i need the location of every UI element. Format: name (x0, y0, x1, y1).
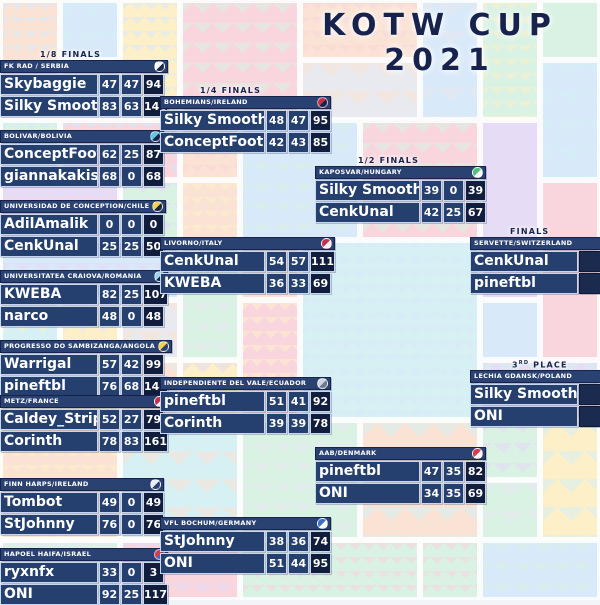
venue-name: UNIVERSITATEA CRAIOVA/ROMANIA (4, 270, 151, 283)
background-tile (420, 540, 480, 600)
score-total: 48 (143, 306, 164, 327)
score-leg1: 48 (99, 306, 120, 327)
match-venue-header: LIVORNO/ITALY (160, 237, 335, 250)
score-leg1: 39 (421, 180, 442, 201)
crest-vfl-bochum-icon (317, 518, 328, 529)
match-row[interactable]: ONI (470, 406, 600, 427)
crest-livorno-icon (321, 238, 332, 249)
venue-name: LIVORNO/ITALY (164, 237, 318, 250)
match-row[interactable]: CenkUnal (470, 251, 600, 272)
score-leg2: 0 (121, 214, 142, 235)
page-title: KOTW CUP 2021 (0, 8, 600, 78)
score-leg1: 34 (421, 483, 442, 504)
match-row[interactable]: ryxnfx3303 (0, 562, 168, 583)
match-rows: pineftbl514192Corinth393978 (160, 391, 331, 434)
match-row[interactable]: Silky Smooth484795 (160, 110, 331, 131)
score-leg2: 0 (121, 562, 142, 583)
match-rows: Warrigal574299pineftbl7668144 (0, 354, 172, 397)
score-leg2: 41 (288, 391, 309, 412)
match-rows: Silky Smooth484795ConceptFootball424385 (160, 110, 331, 153)
team-name: ONI (470, 406, 578, 427)
match-rows: pineftbl473582ONI343569 (315, 461, 486, 504)
venue-name: HAPOEL HAIFA/ISRAEL (4, 548, 151, 561)
team-name: StJohnny (0, 514, 98, 535)
match-row[interactable]: Tombot49049 (0, 492, 164, 513)
match-row[interactable]: narco48048 (0, 306, 168, 327)
venue-name: KAPOSVAR/HUNGARY (319, 166, 469, 179)
score-leg1 (579, 273, 600, 294)
score-total: 117 (143, 584, 168, 605)
crest-independiente-icon (317, 378, 328, 389)
background-tile (540, 60, 600, 180)
score-leg1 (579, 384, 600, 405)
match-row[interactable]: CenkUnal422567 (315, 202, 486, 223)
team-name: ONI (315, 483, 420, 504)
score-leg1: 52 (99, 409, 120, 430)
chevron-pattern-icon (543, 423, 597, 537)
venue-name: PROGRESSO DO SAMBIZANGA/ANGOLA (4, 340, 155, 353)
match-venue-header: METZ/FRANCE (0, 395, 168, 408)
team-name: CenkUnal (470, 251, 578, 272)
round-label-third: 3RD PLACE (512, 360, 568, 370)
chevron-pattern-icon (183, 183, 237, 237)
score-leg2: 39 (288, 413, 309, 434)
team-name: CenkUnal (0, 236, 98, 257)
score-leg1: 51 (266, 391, 287, 412)
score-leg1: 57 (99, 354, 120, 375)
score-total: 0 (143, 214, 164, 235)
score-leg2: 63 (121, 96, 142, 117)
venue-name: LECHIA GDANSK/POLAND (474, 370, 600, 383)
match-rows: Skybaggie474794Silky Smooth8363146 (0, 74, 168, 117)
background-tile (540, 420, 600, 540)
venue-name: BOLIVAR/BOLIVIA (4, 130, 147, 143)
team-name: pineftbl (0, 376, 98, 397)
score-leg1: 36 (266, 273, 287, 294)
score-leg2: 35 (443, 461, 464, 482)
score-leg1: 39 (266, 413, 287, 434)
match-row[interactable]: ConceptFootball622587 (0, 144, 164, 165)
team-name: Silky Smooth (470, 384, 578, 405)
score-leg1: 51 (266, 553, 287, 574)
team-name: Corinth (160, 413, 265, 434)
score-leg1: 76 (99, 514, 120, 535)
score-leg1: 48 (266, 110, 287, 131)
score-total: 69 (310, 273, 331, 294)
score-leg1: 25 (99, 236, 120, 257)
team-name: KWEBA (160, 273, 265, 294)
venue-name: FINN HARPS/IRELAND (4, 478, 147, 491)
match-card[interactable]: SERVETTE/SWITZERLANDCenkUnalpineftbl (470, 237, 600, 294)
score-leg2: 83 (121, 431, 142, 452)
score-leg1: 49 (99, 492, 120, 513)
score-leg1: 82 (99, 284, 120, 305)
score-leg1 (579, 406, 600, 427)
score-leg2: 0 (121, 492, 142, 513)
score-leg2: 25 (443, 202, 464, 223)
score-leg1: 33 (99, 562, 120, 583)
team-name: Silky Smooth (160, 110, 265, 131)
team-name: ryxnfx (0, 562, 98, 583)
score-leg2: 0 (121, 166, 142, 187)
crest-aab-icon (472, 448, 483, 459)
team-name: StJohnny (160, 531, 265, 552)
chevron-pattern-icon (483, 423, 537, 477)
venue-name: BOHEMIANS/IRELAND (164, 96, 314, 109)
match-row[interactable]: ONI343569 (315, 483, 486, 504)
chevron-pattern-icon (483, 303, 537, 357)
match-row[interactable]: Corinth393978 (160, 413, 331, 434)
score-total: 99 (143, 354, 164, 375)
score-leg2: 27 (121, 409, 142, 430)
venue-name: VFL BOCHUM/GERMANY (164, 517, 314, 530)
crest-u-conception-icon (152, 201, 163, 212)
background-tile (480, 480, 540, 540)
score-leg2: 47 (288, 110, 309, 131)
crest-bohemians-icon (317, 97, 328, 108)
background-tile (480, 540, 600, 600)
score-leg2: 0 (443, 180, 464, 201)
team-name: Silky Smooth (0, 96, 98, 117)
score-total: 111 (310, 251, 335, 272)
match-venue-header: INDEPENDIENTE DEL VALE/ECUADOR (160, 377, 331, 390)
team-name: ONI (0, 584, 98, 605)
match-row[interactable]: Corinth7883161 (0, 431, 168, 452)
score-leg1: 38 (266, 531, 287, 552)
match-row[interactable]: KWEBA363369 (160, 273, 335, 294)
score-leg2: 0 (121, 306, 142, 327)
match-row[interactable]: pineftbl514192 (160, 391, 331, 412)
team-name: ONI (160, 553, 265, 574)
team-name: CenkUnal (315, 202, 420, 223)
score-leg1: 62 (99, 144, 120, 165)
match-row[interactable]: ONI514495 (160, 553, 331, 574)
score-leg1: 0 (99, 214, 120, 235)
score-leg2: 25 (121, 584, 142, 605)
match-venue-header: KAPOSVAR/HUNGARY (315, 166, 486, 179)
match-card[interactable]: VFL BOCHUM/GERMANYStJohnny383674ONI51449… (160, 517, 331, 574)
match-card[interactable]: HAPOEL HAIFA/ISRAELryxnfx3303ONI9225117 (0, 548, 168, 605)
score-total: 82 (465, 461, 486, 482)
team-name: pineftbl (470, 273, 578, 294)
score-leg1: 78 (99, 431, 120, 452)
score-leg2: 44 (288, 553, 309, 574)
crest-finn-harps-icon (150, 479, 161, 490)
match-rows: KWEBA8225107narco48048 (0, 284, 168, 327)
score-total: 95 (310, 553, 331, 574)
crest-kaposvar-icon (472, 167, 483, 178)
score-leg2: 68 (121, 376, 142, 397)
score-leg2: 25 (121, 284, 142, 305)
match-venue-header: SERVETTE/SWITZERLAND (470, 237, 600, 250)
match-card[interactable]: UNIVERSITATEA CRAIOVA/ROMANIAKWEBA822510… (0, 270, 168, 327)
match-rows: CenkUnalpineftbl (470, 251, 600, 294)
match-row[interactable]: KWEBA8225107 (0, 284, 168, 305)
match-row[interactable]: pineftbl (470, 273, 600, 294)
chevron-pattern-icon (483, 483, 537, 537)
match-row[interactable]: ONI9225117 (0, 584, 168, 605)
match-card[interactable]: METZ/FRANCECaldey_Strips522779Corinth788… (0, 395, 168, 452)
team-name: Silky Smooth (315, 180, 420, 201)
score-leg2: 43 (288, 132, 309, 153)
team-name: Tombot (0, 492, 98, 513)
match-row[interactable]: CenkUnal252550 (0, 236, 166, 257)
match-venue-header: BOLIVAR/BOLIVIA (0, 130, 164, 143)
team-name: giannakakis (0, 166, 98, 187)
match-card[interactable]: INDEPENDIENTE DEL VALE/ECUADORpineftbl51… (160, 377, 331, 434)
match-card[interactable]: BOLIVAR/BOLIVIAConceptFootball622587gian… (0, 130, 164, 187)
team-name: pineftbl (315, 461, 420, 482)
team-name: Caldey_Strips (0, 409, 98, 430)
match-row[interactable]: Silky Smooth (470, 384, 600, 405)
score-leg2: 57 (288, 251, 309, 272)
match-row[interactable]: Warrigal574299 (0, 354, 172, 375)
score-total: 95 (310, 110, 331, 131)
match-rows: AdilAmalik000CenkUnal252550 (0, 214, 166, 257)
match-venue-header: AAB/DENMARK (315, 447, 486, 460)
match-row[interactable]: AdilAmalik000 (0, 214, 166, 235)
background-tile (180, 180, 240, 240)
score-leg2: 25 (121, 236, 142, 257)
score-leg1: 42 (266, 132, 287, 153)
match-row[interactable]: Silky Smooth39039 (315, 180, 486, 201)
score-leg2: 35 (443, 483, 464, 504)
match-row[interactable]: ConceptFootball424385 (160, 132, 331, 153)
match-row[interactable]: pineftbl7668144 (0, 376, 172, 397)
team-name: Corinth (0, 431, 98, 452)
match-row[interactable]: giannakakis68068 (0, 166, 164, 187)
score-total: 74 (310, 531, 331, 552)
background-tile (480, 420, 540, 480)
venue-name: AAB/DENMARK (319, 447, 469, 460)
team-name: AdilAmalik (0, 214, 98, 235)
match-card[interactable]: LECHIA GDANSK/POLANDSilky SmoothONI (470, 370, 600, 427)
team-name: ConceptFootball (0, 144, 98, 165)
score-leg1: 47 (421, 461, 442, 482)
match-row[interactable]: Caldey_Strips522779 (0, 409, 168, 430)
team-name: ConceptFootball (160, 132, 265, 153)
chevron-pattern-icon (483, 543, 597, 597)
score-leg1: 92 (99, 584, 120, 605)
chevron-pattern-icon (423, 543, 477, 597)
match-venue-header: LECHIA GDANSK/POLAND (470, 370, 600, 383)
match-card[interactable]: KAPOSVAR/HUNGARYSilky Smooth39039CenkUna… (315, 166, 486, 223)
score-total: 67 (465, 202, 486, 223)
score-leg1 (579, 251, 600, 272)
match-rows: ConceptFootball622587giannakakis68068 (0, 144, 164, 187)
match-row[interactable]: StJohnny76076 (0, 514, 164, 535)
team-name: CenkUnal (160, 251, 265, 272)
score-total: 39 (465, 180, 486, 201)
venue-name: UNIVERSIDAD DE CONCEPTION/CHILE (4, 200, 149, 213)
score-leg2: 36 (288, 531, 309, 552)
score-total: 85 (310, 132, 331, 153)
match-venue-header: FINN HARPS/IRELAND (0, 478, 164, 491)
match-venue-header: PROGRESSO DO SAMBIZANGA/ANGOLA (0, 340, 172, 353)
match-rows: Caldey_Strips522779Corinth7883161 (0, 409, 168, 452)
venue-name: SERVETTE/SWITZERLAND (474, 237, 600, 250)
match-venue-header: BOHEMIANS/IRELAND (160, 96, 331, 109)
match-rows: Silky Smooth39039CenkUnal422567 (315, 180, 486, 223)
match-rows: Silky SmoothONI (470, 384, 600, 427)
round-label-final: FINALS (510, 227, 549, 236)
match-card[interactable]: AAB/DENMARKpineftbl473582ONI343569 (315, 447, 486, 504)
score-total: 68 (143, 166, 164, 187)
match-card[interactable]: UNIVERSIDAD DE CONCEPTION/CHILEAdilAmali… (0, 200, 166, 257)
background-tile (480, 300, 540, 360)
score-leg1: 68 (99, 166, 120, 187)
round-label-qf: 1/4 FINALS (200, 86, 261, 95)
score-leg1: 42 (421, 202, 442, 223)
score-leg1: 83 (99, 96, 120, 117)
match-card[interactable]: LIVORNO/ITALYCenkUnal5457111KWEBA363369 (160, 237, 335, 294)
team-name: pineftbl (160, 391, 265, 412)
score-leg1: 76 (99, 376, 120, 397)
score-total: 49 (143, 492, 164, 513)
match-venue-header: VFL BOCHUM/GERMANY (160, 517, 331, 530)
crest-progresso-icon (158, 341, 169, 352)
match-row[interactable]: StJohnny383674 (160, 531, 331, 552)
match-venue-header: UNIVERSIDAD DE CONCEPTION/CHILE (0, 200, 166, 213)
match-venue-header: HAPOEL HAIFA/ISRAEL (0, 548, 168, 561)
match-row[interactable]: CenkUnal5457111 (160, 251, 335, 272)
score-total: 92 (310, 391, 331, 412)
match-card[interactable]: FINN HARPS/IRELANDTombot49049StJohnny760… (0, 478, 164, 535)
venue-name: METZ/FRANCE (4, 395, 151, 408)
match-card[interactable]: BOHEMIANS/IRELANDSilky Smooth484795Conce… (160, 96, 331, 153)
team-name: narco (0, 306, 98, 327)
score-total: 161 (143, 431, 168, 452)
chevron-pattern-icon (543, 63, 597, 177)
match-rows: CenkUnal5457111KWEBA363369 (160, 251, 335, 294)
match-rows: ryxnfx3303ONI9225117 (0, 562, 168, 605)
score-leg2: 42 (121, 354, 142, 375)
score-leg1: 54 (266, 251, 287, 272)
score-leg2: 25 (121, 144, 142, 165)
score-total: 69 (465, 483, 486, 504)
round-label-sf: 1/2 FINALS (358, 156, 419, 165)
match-row[interactable]: pineftbl473582 (315, 461, 486, 482)
score-leg2: 33 (288, 273, 309, 294)
match-rows: StJohnny383674ONI514495 (160, 531, 331, 574)
match-card[interactable]: PROGRESSO DO SAMBIZANGA/ANGOLAWarrigal57… (0, 340, 172, 397)
match-rows: Tombot49049StJohnny76076 (0, 492, 164, 535)
venue-name: INDEPENDIENTE DEL VALE/ECUADOR (164, 377, 314, 390)
team-name: Warrigal (0, 354, 98, 375)
score-total: 78 (310, 413, 331, 434)
score-leg2: 0 (121, 514, 142, 535)
match-venue-header: UNIVERSITATEA CRAIOVA/ROMANIA (0, 270, 168, 283)
team-name: KWEBA (0, 284, 98, 305)
match-row[interactable]: Silky Smooth8363146 (0, 96, 168, 117)
